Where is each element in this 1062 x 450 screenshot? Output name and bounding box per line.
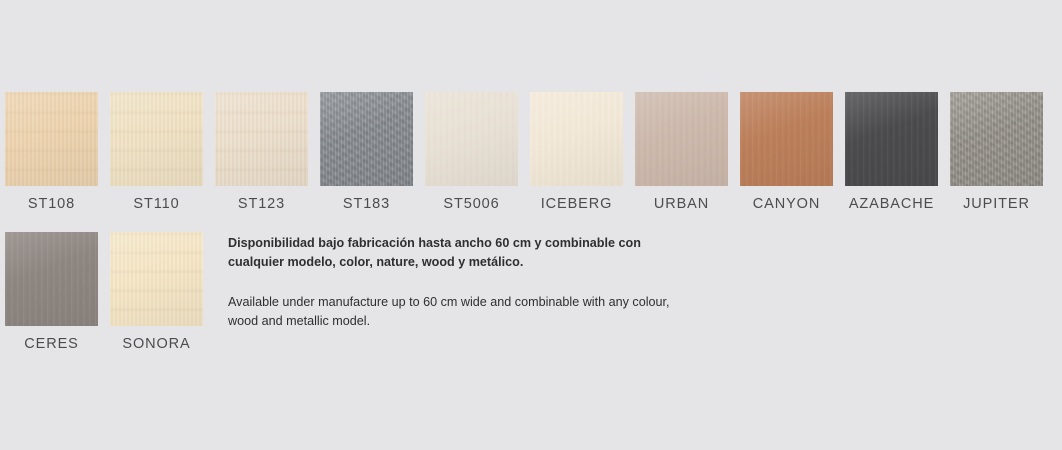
swatch-label: AZABACHE (849, 197, 934, 212)
finishes-row-2: CERESSONORA (5, 232, 215, 352)
swatch-texture-overlay (425, 92, 518, 186)
swatch-texture-overlay (215, 92, 308, 186)
swatch-sheen-overlay (740, 92, 833, 186)
swatch-st108[interactable]: ST108 (5, 92, 98, 212)
swatch-chip-st108[interactable] (5, 92, 98, 186)
swatch-sheen-overlay (950, 92, 1043, 186)
swatch-texture-overlay (110, 92, 203, 186)
swatch-texture-overlay (740, 92, 833, 186)
swatch-azabache[interactable]: AZABACHE (845, 92, 938, 212)
swatch-chip-iceberg[interactable] (530, 92, 623, 186)
swatch-sheen-overlay (5, 92, 98, 186)
swatch-sheen-overlay (215, 92, 308, 186)
swatch-label: ST123 (238, 197, 285, 212)
swatch-label: SONORA (122, 337, 190, 352)
swatch-label: CERES (24, 337, 78, 352)
swatch-label: ST183 (343, 197, 390, 212)
swatch-texture-overlay (320, 92, 413, 186)
swatch-ceres[interactable]: CERES (5, 232, 98, 352)
swatch-chip-ceres[interactable] (5, 232, 98, 326)
swatch-label: CANYON (753, 197, 820, 212)
swatch-iceberg[interactable]: ICEBERG (530, 92, 623, 212)
swatch-st110[interactable]: ST110 (110, 92, 203, 212)
swatch-chip-azabache[interactable] (845, 92, 938, 186)
swatch-canyon[interactable]: CANYON (740, 92, 833, 212)
swatch-label: JUPITER (963, 197, 1030, 212)
swatch-st183[interactable]: ST183 (320, 92, 413, 212)
swatch-urban[interactable]: URBAN (635, 92, 728, 212)
swatch-sheen-overlay (530, 92, 623, 186)
swatch-sheen-overlay (110, 232, 203, 326)
swatch-st5006[interactable]: ST5006 (425, 92, 518, 212)
swatch-chip-st183[interactable] (320, 92, 413, 186)
swatch-chip-st123[interactable] (215, 92, 308, 186)
swatch-texture-overlay (5, 92, 98, 186)
swatch-sheen-overlay (845, 92, 938, 186)
swatch-sheen-overlay (110, 92, 203, 186)
swatch-sonora[interactable]: SONORA (110, 232, 203, 352)
swatch-chip-st110[interactable] (110, 92, 203, 186)
availability-note: Disponibilidad bajo fabricación hasta an… (228, 234, 680, 331)
swatch-label: ST108 (28, 197, 75, 212)
swatch-chip-sonora[interactable] (110, 232, 203, 326)
swatch-label: URBAN (654, 197, 709, 212)
swatch-chip-urban[interactable] (635, 92, 728, 186)
swatch-chip-st5006[interactable] (425, 92, 518, 186)
swatch-texture-overlay (635, 92, 728, 186)
swatch-texture-overlay (5, 232, 98, 326)
finishes-row-1: ST108ST110ST123ST183ST5006ICEBERGURBANCA… (5, 92, 1055, 212)
swatch-texture-overlay (845, 92, 938, 186)
availability-note-spanish: Disponibilidad bajo fabricación hasta an… (228, 234, 680, 271)
swatch-label: ST5006 (443, 197, 499, 212)
swatch-sheen-overlay (320, 92, 413, 186)
availability-note-english: Available under manufacture up to 60 cm … (228, 293, 680, 330)
swatch-texture-overlay (950, 92, 1043, 186)
swatch-st123[interactable]: ST123 (215, 92, 308, 212)
swatch-chip-canyon[interactable] (740, 92, 833, 186)
swatch-sheen-overlay (5, 232, 98, 326)
swatch-sheen-overlay (425, 92, 518, 186)
swatch-sheen-overlay (635, 92, 728, 186)
swatch-label: ST110 (133, 197, 179, 212)
swatch-jupiter[interactable]: JUPITER (950, 92, 1043, 212)
swatch-texture-overlay (530, 92, 623, 186)
swatch-texture-overlay (110, 232, 203, 326)
swatch-chip-jupiter[interactable] (950, 92, 1043, 186)
finishes-board: ST108ST110ST123ST183ST5006ICEBERGURBANCA… (0, 0, 1062, 450)
swatch-label: ICEBERG (541, 197, 613, 212)
